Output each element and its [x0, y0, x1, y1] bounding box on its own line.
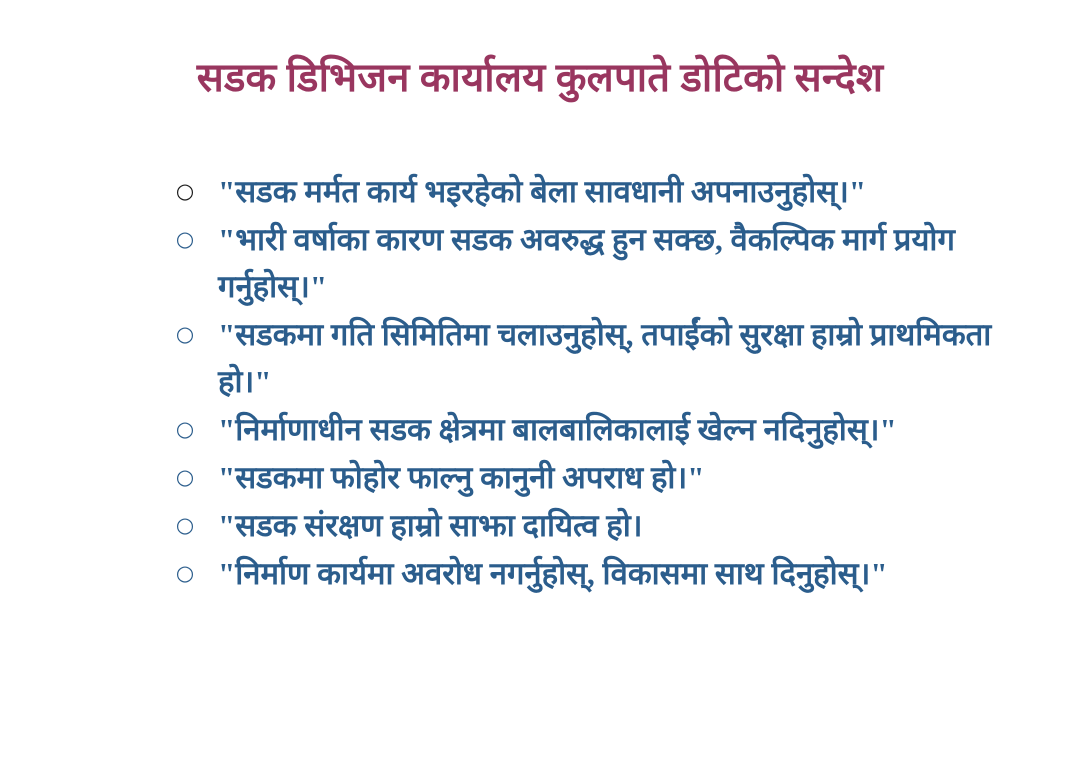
list-item: ○ "सडकमा गति सिमितिमा चलाउनुहोस्, तपाईंक… — [166, 311, 1026, 405]
list-item: ○ "सडक मर्मत कार्य भइरहेको बेला सावधानी … — [166, 168, 1026, 215]
list-item-text: "सडकमा फोहोर फाल्नु कानुनी अपराध हो।" — [218, 454, 1026, 501]
title-block: सडक डिभिजन कार्यालय कुलपाते डोटिको सन्दे… — [0, 56, 1080, 101]
circle-bullet-icon: ○ — [174, 502, 196, 549]
list-item-text: "निर्माण कार्यमा अवरोध नगर्नुहोस्, विकास… — [218, 550, 1026, 597]
list-item-text: "सडक मर्मत कार्य भइरहेको बेला सावधानी अप… — [218, 168, 1026, 215]
list-item-text: "सडकमा गति सिमितिमा चलाउनुहोस्, तपाईंको … — [218, 311, 1026, 405]
circle-bullet-icon: ○ — [174, 454, 196, 501]
list-item-text: "निर्माणाधीन सडक क्षेत्रमा बालबालिकालाई … — [218, 406, 1026, 453]
list-item-text: "सडक संरक्षण हाम्रो साझा दायित्व हो। — [218, 502, 1026, 549]
list-item: ○ "भारी वर्षाका कारण सडक अवरुद्ध हुन सक्… — [166, 216, 1026, 310]
page-title: सडक डिभिजन कार्यालय कुलपाते डोटिको सन्दे… — [197, 56, 884, 101]
circle-bullet-icon: ○ — [174, 550, 196, 597]
circle-bullet-icon: ○ — [174, 406, 196, 453]
circle-bullet-icon: ○ — [174, 216, 196, 263]
message-bullet-list: ○ "सडक मर्मत कार्य भइरहेको बेला सावधानी … — [166, 168, 1026, 597]
message-list-container: ○ "सडक मर्मत कार्य भइरहेको बेला सावधानी … — [166, 168, 1026, 598]
list-item: ○ "सडकमा फोहोर फाल्नु कानुनी अपराध हो।" — [166, 454, 1026, 501]
circle-bullet-icon: ○ — [174, 311, 196, 358]
list-item: ○ "निर्माणाधीन सडक क्षेत्रमा बालबालिकाला… — [166, 406, 1026, 453]
list-item: ○ "सडक संरक्षण हाम्रो साझा दायित्व हो। — [166, 502, 1026, 549]
slide-canvas: सडक डिभिजन कार्यालय कुलपाते डोटिको सन्दे… — [0, 0, 1080, 778]
list-item-text: "भारी वर्षाका कारण सडक अवरुद्ध हुन सक्छ,… — [218, 216, 1026, 310]
circle-bullet-icon: ○ — [174, 168, 196, 215]
list-item: ○ "निर्माण कार्यमा अवरोध नगर्नुहोस्, विक… — [166, 550, 1026, 597]
